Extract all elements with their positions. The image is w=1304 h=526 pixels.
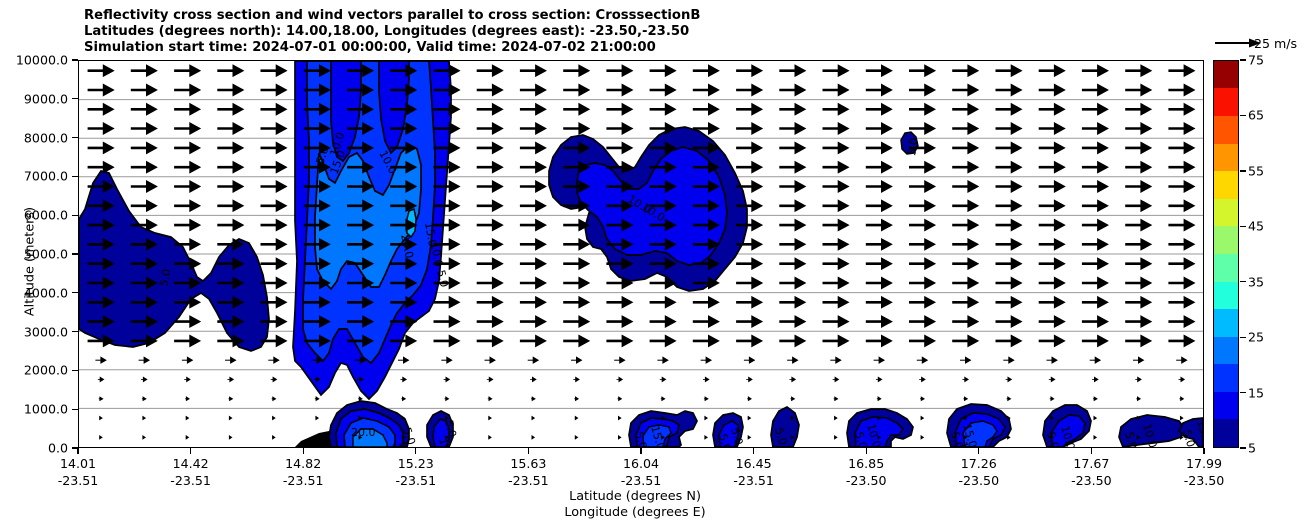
wind-vector-arrow — [1125, 162, 1151, 173]
wind-vector-arrow — [1047, 357, 1057, 363]
wind-vector-arrow — [701, 357, 711, 363]
wind-vector-arrow — [866, 104, 892, 115]
wind-vector-arrow — [1168, 162, 1194, 173]
wind-vector-arrow — [217, 220, 243, 231]
wind-vector-arrow — [1082, 316, 1108, 327]
wind-vector-arrow — [217, 84, 243, 95]
y-axis-tick-label: 9000.0 — [24, 91, 68, 106]
colorbar-tick-mark — [1240, 447, 1246, 448]
wind-vector-arrow — [650, 335, 676, 346]
wind-vector-arrow — [272, 417, 275, 420]
wind-vector-arrow — [650, 297, 676, 308]
wind-vector-arrow — [823, 316, 849, 327]
wind-vector-arrow — [1125, 181, 1151, 192]
wind-vector-arrow — [693, 104, 719, 115]
wind-vector-arrow — [477, 316, 503, 327]
wind-vector-arrow — [866, 181, 892, 192]
wind-vector-arrow — [174, 65, 200, 76]
wind-vector-arrow — [996, 181, 1022, 192]
colorbar — [1213, 60, 1239, 448]
wind-vector-arrow — [606, 84, 632, 95]
wind-vector-arrow — [563, 258, 589, 269]
wind-vector-arrow — [1125, 142, 1151, 153]
wind-vector-arrow — [779, 277, 805, 288]
wind-vector-arrow — [174, 335, 200, 346]
wind-vector-arrow — [563, 123, 589, 134]
wind-vector-arrow — [866, 220, 892, 231]
wind-vector-arrow — [477, 220, 503, 231]
x-axis-tick-mark — [640, 448, 641, 454]
wind-vector-arrow — [528, 357, 538, 363]
wind-vector-arrow — [520, 239, 546, 250]
svg-text:20.0: 20.0 — [351, 426, 376, 439]
wind-vector-arrow — [1039, 258, 1065, 269]
wind-vector-arrow — [952, 65, 978, 76]
wind-vector-arrow — [909, 84, 935, 95]
colorbar-segment — [1214, 309, 1238, 337]
wind-vector-arrow — [876, 377, 882, 381]
wind-vector-arrow — [358, 397, 362, 400]
x-axis-tick-mark — [753, 448, 754, 454]
wind-vector-arrow — [909, 200, 935, 211]
wind-vector-arrow — [996, 65, 1022, 76]
wind-vector-arrow — [1039, 181, 1065, 192]
wind-vector-arrow — [1039, 220, 1065, 231]
wind-vector-arrow — [520, 162, 546, 173]
wind-vector-arrow — [1082, 277, 1108, 288]
wind-vector-arrow — [736, 104, 762, 115]
wind-vector-arrow — [573, 377, 579, 381]
wind-vector-arrow — [1168, 200, 1194, 211]
wind-vector-arrow — [520, 104, 546, 115]
wind-vector-arrow — [520, 220, 546, 231]
wind-vector-arrow — [1168, 220, 1194, 231]
wind-vector-arrow — [143, 436, 146, 439]
wind-vector-arrow — [131, 123, 157, 134]
wind-vector-arrow — [1125, 200, 1151, 211]
wind-vector-arrow — [477, 200, 503, 211]
x-axis-tick-label-group: 17.67-23.50 — [1046, 455, 1136, 489]
wind-vector-arrow — [477, 181, 503, 192]
wind-vector-arrow — [909, 123, 935, 134]
wind-vector-arrow — [909, 297, 935, 308]
wind-vector-arrow — [434, 316, 460, 327]
wind-vector-arrow — [823, 258, 849, 269]
wind-vector-arrow — [693, 297, 719, 308]
colorbar-tick-mark — [1240, 392, 1246, 393]
wind-vector-arrow — [1039, 200, 1065, 211]
wind-vector-arrow — [227, 377, 233, 381]
y-axis-tick-label: 2000.0 — [24, 363, 68, 378]
wind-vector-arrow — [477, 335, 503, 346]
figure-title-line-2: Latitudes (degrees north): 14.00,18.00, … — [84, 24, 700, 40]
figure-canvas: Reflectivity cross section and wind vect… — [0, 0, 1304, 526]
x-axis-title-latitude: Latitude (degrees N) — [0, 489, 1270, 504]
wind-vector-arrow — [1179, 377, 1185, 381]
wind-vector-arrow — [661, 397, 665, 400]
wind-vector-arrow — [1125, 220, 1151, 231]
wind-vector-arrow — [748, 436, 751, 439]
wind-vector-arrow — [789, 377, 795, 381]
wind-vector-arrow — [401, 397, 405, 400]
wind-vector-arrow — [217, 142, 243, 153]
reference-wind-vector-label: 25 m/s — [1254, 36, 1297, 51]
wind-vector-arrow — [823, 200, 849, 211]
colorbar-tick-label: 5 — [1248, 441, 1256, 456]
wind-vector-arrow — [1168, 335, 1194, 346]
wind-vector-arrow — [779, 123, 805, 134]
wind-vector-arrow — [606, 142, 632, 153]
x-axis-tick-mark — [1203, 448, 1204, 454]
wind-vector-arrow — [228, 397, 232, 400]
x-axis-tick-mark — [415, 448, 416, 454]
x-axis-tick-label-latitude: 17.99 — [1159, 455, 1249, 472]
wind-vector-arrow — [1082, 162, 1108, 173]
wind-vector-arrow — [866, 277, 892, 288]
wind-vector-arrow — [657, 357, 667, 363]
wind-vector-arrow — [261, 65, 287, 76]
wind-vector-arrow — [909, 65, 935, 76]
wind-vector-arrow — [960, 357, 970, 363]
wind-vector-arrow — [477, 104, 503, 115]
colorbar-tick-label: 25 — [1248, 330, 1264, 345]
wind-vector-arrow — [736, 84, 762, 95]
wind-vector-arrow — [779, 162, 805, 173]
wind-vector-arrow — [1082, 181, 1108, 192]
wind-vector-arrow — [1125, 335, 1151, 346]
wind-vector-arrow — [1168, 316, 1194, 327]
wind-vector-arrow — [485, 357, 495, 363]
wind-vector-arrow — [139, 357, 149, 363]
wind-vector-arrow — [477, 277, 503, 288]
wind-vector-arrow — [996, 142, 1022, 153]
wind-vector-arrow — [563, 65, 589, 76]
wind-vector-arrow — [488, 397, 492, 400]
wind-vector-arrow — [1049, 377, 1055, 381]
wind-vector-arrow — [1136, 397, 1140, 400]
x-axis-tick-label-latitude: 15.23 — [371, 455, 461, 472]
wind-vector-arrow — [650, 316, 676, 327]
wind-vector-arrow — [606, 104, 632, 115]
wind-vector-arrow — [174, 104, 200, 115]
wind-vector-arrow — [143, 417, 146, 420]
wind-vector-arrow — [98, 377, 104, 381]
wind-vector-arrow — [530, 377, 536, 381]
wind-vector-arrow — [1168, 277, 1194, 288]
wind-vector-arrow — [1039, 277, 1065, 288]
x-axis-tick-label-longitude: -23.51 — [371, 472, 461, 489]
wind-vector-arrow — [1082, 84, 1108, 95]
wind-vector-arrow — [1039, 239, 1065, 250]
wind-vector-arrow — [131, 65, 157, 76]
wind-vector-arrow — [617, 377, 623, 381]
wind-vector-arrow — [996, 316, 1022, 327]
wind-vector-arrow — [88, 142, 114, 153]
wind-vector-arrow — [779, 258, 805, 269]
wind-vector-arrow — [921, 436, 924, 439]
x-axis-tick-label-group: 15.63-23.51 — [483, 455, 573, 489]
wind-vector-arrow — [917, 357, 927, 363]
x-axis-tick-mark — [1091, 448, 1092, 454]
wind-vector-arrow — [1168, 65, 1194, 76]
wind-vector-arrow — [909, 220, 935, 231]
x-axis-tick-label-group: 15.23-23.51 — [371, 455, 461, 489]
y-axis-title: Altitude (meters) — [23, 162, 38, 362]
wind-vector-arrow — [141, 377, 147, 381]
wind-vector-arrow — [1168, 239, 1194, 250]
x-axis-tick-mark — [303, 448, 304, 454]
colorbar-segment — [1214, 392, 1238, 420]
wind-vector-arrow — [99, 397, 103, 400]
wind-vector-arrow — [88, 104, 114, 115]
wind-vector-arrow — [962, 377, 968, 381]
x-axis-tick-label-longitude: -23.51 — [33, 472, 123, 489]
wind-vector-arrow — [952, 316, 978, 327]
colorbar-tick-label: 65 — [1248, 108, 1264, 123]
wind-vector-arrow — [1133, 357, 1143, 363]
wind-vector-arrow — [520, 258, 546, 269]
wind-vector-arrow — [834, 436, 837, 439]
colorbar-tick-label: 35 — [1248, 274, 1264, 289]
wind-vector-arrow — [261, 239, 287, 250]
wind-vector-arrow — [996, 200, 1022, 211]
wind-vector-arrow — [563, 84, 589, 95]
wind-vector-arrow — [88, 123, 114, 134]
x-axis-tick-label-longitude: -23.51 — [709, 472, 799, 489]
wind-vector-arrow — [866, 297, 892, 308]
colorbar-tick-mark — [1240, 170, 1246, 171]
wind-vector-arrow — [272, 397, 276, 400]
y-axis-tick-label: 1000.0 — [24, 402, 68, 417]
wind-vector-arrow — [261, 200, 287, 211]
wind-vector-arrow — [952, 297, 978, 308]
wind-vector-arrow — [272, 436, 275, 439]
wind-vector-arrow — [477, 142, 503, 153]
wind-vector-arrow — [779, 200, 805, 211]
cross-section-plot: 5.0 10.0 10.0 15.0 10.0 5.0 20.0 15.0 5.… — [79, 61, 1203, 447]
wind-vector-arrow — [520, 65, 546, 76]
wind-vector-arrow — [186, 436, 189, 439]
wind-vector-arrow — [790, 397, 794, 400]
x-axis-tick-label-latitude: 16.85 — [821, 455, 911, 472]
wind-vector-arrow — [1039, 335, 1065, 346]
wind-vector-arrow — [184, 377, 190, 381]
wind-vector-arrow — [909, 104, 935, 115]
wind-vector-arrow — [704, 397, 708, 400]
wind-vector-arrow — [823, 335, 849, 346]
wind-vector-arrow — [1039, 297, 1065, 308]
wind-vector-arrow — [477, 65, 503, 76]
x-axis-tick-label-latitude: 16.45 — [709, 455, 799, 472]
wind-vector-arrow — [779, 65, 805, 76]
wind-vector-arrow — [520, 277, 546, 288]
wind-vector-arrow — [866, 258, 892, 269]
y-axis-tick-label: 10000.0 — [16, 53, 68, 68]
wind-vector-arrow — [563, 297, 589, 308]
wind-vector-arrow — [1125, 258, 1151, 269]
wind-vector-arrow — [866, 65, 892, 76]
wind-vector-arrow — [779, 181, 805, 192]
wind-vector-arrow — [823, 239, 849, 250]
wind-vector-arrow — [650, 84, 676, 95]
wind-vector-arrow — [952, 104, 978, 115]
wind-vector-arrow — [606, 297, 632, 308]
wind-vector-arrow — [779, 239, 805, 250]
wind-vector-arrow — [744, 357, 754, 363]
x-axis-tick-label-group: 17.99-23.50 — [1159, 455, 1249, 489]
wind-vector-arrow — [1039, 316, 1065, 327]
wind-vector-arrow — [217, 65, 243, 76]
wind-vector-arrow — [952, 123, 978, 134]
wind-vector-arrow — [434, 297, 460, 308]
x-axis-tick-label-latitude: 16.04 — [596, 455, 686, 472]
wind-vector-arrow — [99, 436, 102, 439]
wind-vector-arrow — [1050, 397, 1054, 400]
colorbar-segment — [1214, 88, 1238, 116]
wind-vector-arrow — [909, 335, 935, 346]
wind-vector-arrow — [952, 239, 978, 250]
wind-vector-arrow — [1082, 65, 1108, 76]
wind-vector-arrow — [736, 123, 762, 134]
wind-vector-arrow — [398, 357, 408, 363]
wind-vector-arrow — [520, 84, 546, 95]
wind-vector-arrow — [131, 104, 157, 115]
colorbar-segment — [1214, 254, 1238, 282]
wind-vector-arrow — [823, 181, 849, 192]
wind-vector-arrow — [909, 181, 935, 192]
wind-vector-arrow — [693, 84, 719, 95]
wind-vector-arrow — [996, 297, 1022, 308]
wind-vector-arrow — [520, 200, 546, 211]
wind-vector-arrow — [1039, 104, 1065, 115]
wind-vector-arrow — [174, 220, 200, 231]
wind-vector-arrow — [217, 181, 243, 192]
wind-vector-arrow — [746, 377, 752, 381]
wind-vector-arrow — [996, 84, 1022, 95]
x-axis-tick-label-group: 16.45-23.51 — [709, 455, 799, 489]
colorbar-tick-mark — [1240, 281, 1246, 282]
wind-vector-arrow — [1094, 417, 1097, 420]
wind-vector-arrow — [866, 123, 892, 134]
wind-vector-arrow — [434, 335, 460, 346]
wind-vector-arrow — [823, 142, 849, 153]
wind-vector-arrow — [920, 397, 924, 400]
wind-vector-arrow — [909, 258, 935, 269]
wind-vector-arrow — [1007, 397, 1011, 400]
wind-vector-arrow — [142, 397, 146, 400]
x-axis-tick-label-longitude: -23.50 — [1046, 472, 1136, 489]
wind-vector-arrow — [575, 436, 578, 439]
wind-vector-arrow — [174, 200, 200, 211]
wind-vector-arrow — [736, 258, 762, 269]
colorbar-segment — [1214, 337, 1238, 365]
wind-vector-arrow — [996, 104, 1022, 115]
wind-vector-arrow — [174, 84, 200, 95]
wind-vector-arrow — [703, 377, 709, 381]
x-axis-tick-mark — [190, 448, 191, 454]
wind-vector-arrow — [1082, 104, 1108, 115]
x-axis-tick-label-group: 17.26-23.50 — [934, 455, 1024, 489]
wind-vector-arrow — [823, 277, 849, 288]
wind-vector-arrow — [606, 316, 632, 327]
colorbar-tick-mark — [1240, 337, 1246, 338]
wind-vector-arrow — [909, 277, 935, 288]
wind-vector-arrow — [779, 142, 805, 153]
wind-vector-arrow — [787, 357, 797, 363]
wind-vector-arrow — [574, 397, 578, 400]
wind-vector-arrow — [830, 357, 840, 363]
wind-vector-arrow — [996, 335, 1022, 346]
wind-vector-arrow — [866, 239, 892, 250]
wind-vector-arrow — [874, 357, 884, 363]
wind-vector-arrow — [400, 377, 406, 381]
wind-vector-arrow — [532, 417, 535, 420]
wind-vector-arrow — [1180, 417, 1183, 420]
colorbar-segment — [1214, 116, 1238, 144]
wind-vector-arrow — [1125, 277, 1151, 288]
x-axis-tick-label-longitude: -23.51 — [483, 472, 573, 489]
x-axis-tick-label-group: 14.42-23.51 — [146, 455, 236, 489]
x-axis-tick-label-longitude: -23.51 — [258, 472, 348, 489]
wind-vector-arrow — [660, 377, 666, 381]
wind-vector-arrow — [261, 220, 287, 231]
wind-vector-arrow — [444, 377, 450, 381]
wind-vector-arrow — [952, 162, 978, 173]
x-axis-tick-label-group: 14.82-23.51 — [258, 455, 348, 489]
wind-vector-arrow — [736, 277, 762, 288]
colorbar-segment — [1214, 364, 1238, 392]
wind-vector-arrow — [1082, 220, 1108, 231]
figure-title-line-1: Reflectivity cross section and wind vect… — [84, 8, 700, 24]
wind-vector-arrow — [477, 162, 503, 173]
wind-vector-arrow — [747, 397, 751, 400]
wind-vector-arrow — [606, 335, 632, 346]
wind-vector-arrow — [693, 65, 719, 76]
wind-vector-arrow — [617, 397, 621, 400]
wind-vector-arrow — [952, 181, 978, 192]
x-axis-tick-label-longitude: -23.50 — [1159, 472, 1249, 489]
figure-title: Reflectivity cross section and wind vect… — [84, 8, 700, 57]
wind-vector-arrow — [477, 239, 503, 250]
x-axis-tick-mark — [866, 448, 867, 454]
wind-vector-arrow — [225, 357, 235, 363]
y-axis-tick-label: 8000.0 — [24, 130, 68, 145]
wind-vector-arrow — [174, 162, 200, 173]
wind-vector-arrow — [477, 297, 503, 308]
wind-vector-arrow — [131, 142, 157, 153]
wind-vector-arrow — [1125, 297, 1151, 308]
wind-vector-arrow — [650, 65, 676, 76]
wind-vector-arrow — [88, 65, 114, 76]
x-axis-tick-label-longitude: -23.51 — [146, 472, 236, 489]
wind-vector-arrow — [996, 239, 1022, 250]
wind-vector-arrow — [99, 417, 102, 420]
wind-vector-arrow — [441, 357, 451, 363]
wind-vector-arrow — [736, 335, 762, 346]
wind-vector-arrow — [182, 357, 192, 363]
wind-vector-arrow — [952, 277, 978, 288]
wind-vector-arrow — [606, 65, 632, 76]
wind-vector-arrow — [1168, 181, 1194, 192]
wind-vector-arrow — [229, 436, 232, 439]
wind-vector-arrow — [779, 316, 805, 327]
wind-vector-arrow — [952, 200, 978, 211]
wind-vector-arrow — [693, 335, 719, 346]
wind-vector-arrow — [261, 181, 287, 192]
wind-vector-arrow — [877, 397, 881, 400]
wind-vector-arrow — [563, 277, 589, 288]
figure-title-line-3: Simulation start time: 2024-07-01 00:00:… — [84, 40, 700, 56]
